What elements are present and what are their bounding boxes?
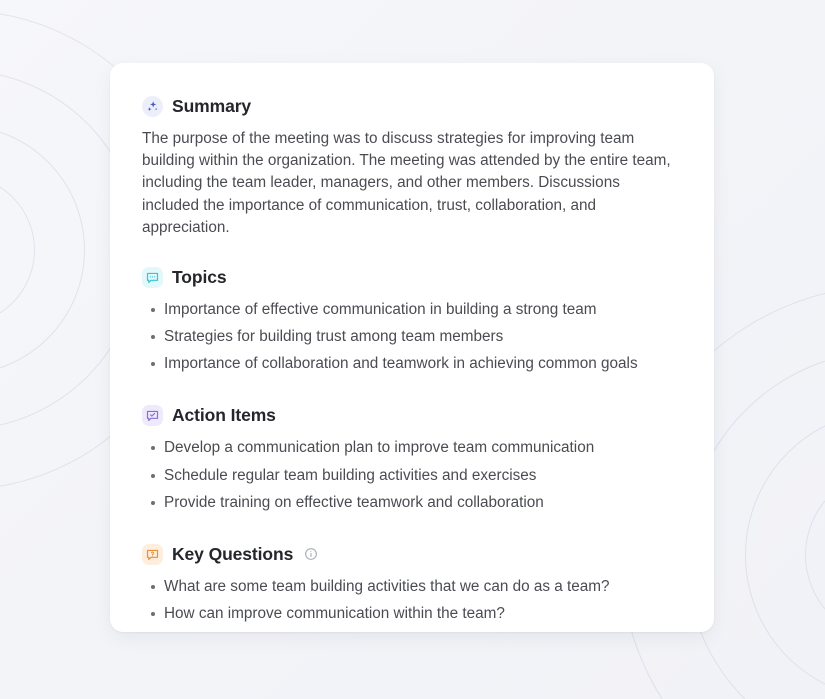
list-item: Develop a communication plan to improve … [142, 437, 682, 459]
section-action-items: Action Items Develop a communication pla… [142, 405, 682, 514]
section-title: Summary [172, 96, 251, 117]
chat-check-icon [142, 405, 163, 426]
section-header: Action Items [142, 405, 682, 426]
section-title: Topics [172, 267, 227, 288]
info-circle-icon[interactable] [304, 547, 318, 561]
section-header: Summary [142, 96, 682, 117]
section-summary: Summary The purpose of the meeting was t… [142, 96, 682, 239]
section-key-questions: Key Questions What are some team buildin… [142, 544, 682, 625]
topics-list: Importance of effective communication in… [142, 299, 682, 376]
list-item: Schedule regular team building activitie… [142, 465, 682, 487]
section-title: Action Items [172, 405, 276, 426]
list-item: How can improve communication within the… [142, 603, 682, 625]
action-items-list: Develop a communication plan to improve … [142, 437, 682, 514]
section-header: Key Questions [142, 544, 682, 565]
key-questions-list: What are some team building activities t… [142, 576, 682, 625]
summary-text: The purpose of the meeting was to discus… [142, 128, 672, 239]
list-item: What are some team building activities t… [142, 576, 682, 598]
section-topics: Topics Importance of effective communica… [142, 267, 682, 376]
list-item: Importance of effective communication in… [142, 299, 682, 321]
chat-question-icon [142, 544, 163, 565]
section-title: Key Questions [172, 544, 293, 565]
sparkle-icon [142, 96, 163, 117]
section-header: Topics [142, 267, 682, 288]
chat-dots-icon [142, 267, 163, 288]
list-item: Importance of collaboration and teamwork… [142, 353, 682, 375]
meeting-notes-card: Summary The purpose of the meeting was t… [110, 63, 714, 632]
list-item: Provide training on effective teamwork a… [142, 492, 682, 514]
list-item: Strategies for building trust among team… [142, 326, 682, 348]
